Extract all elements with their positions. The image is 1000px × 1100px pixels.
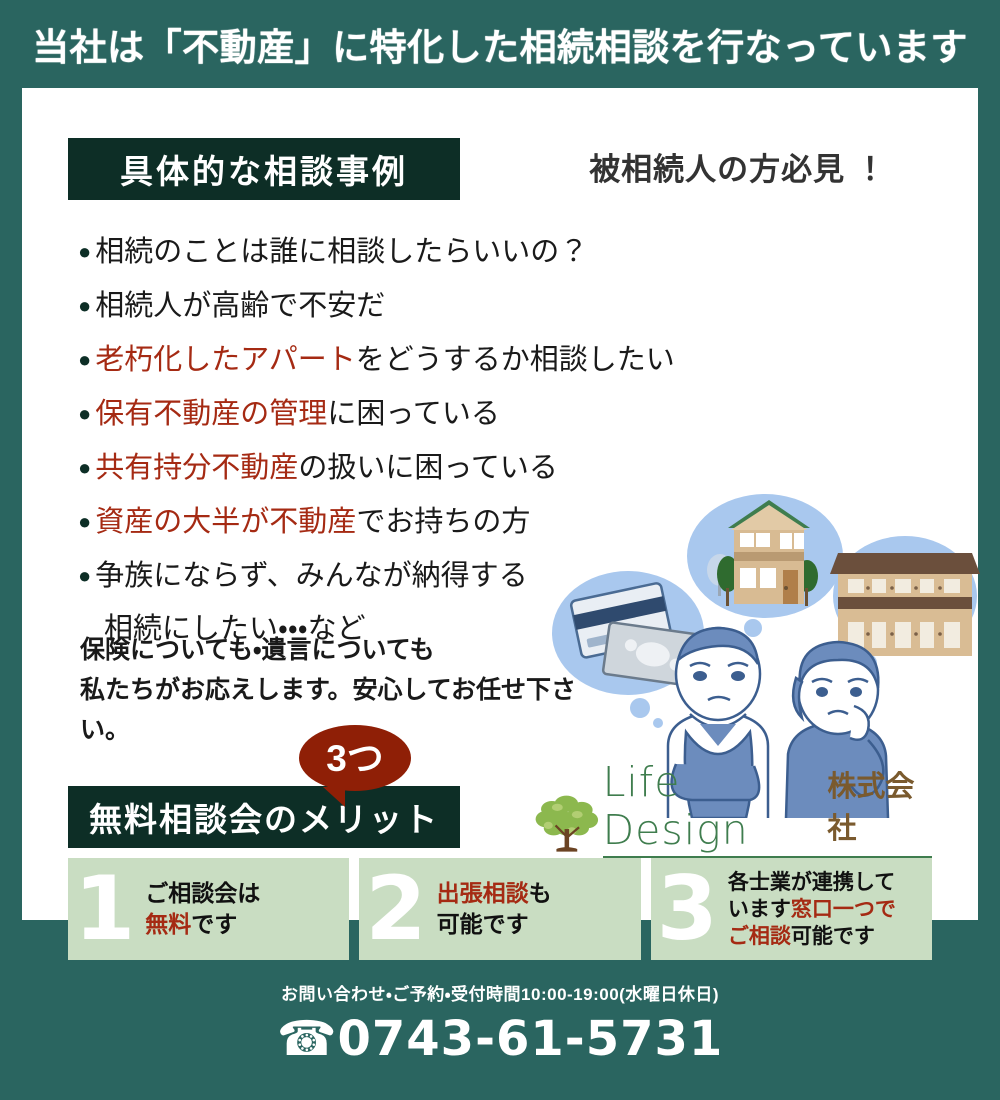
list-item: ● 保有不動産の管理に困っている [78,390,718,438]
bullet-rest: でお持ちの方 [356,506,530,538]
merit-highlight: 無料 [145,911,191,937]
page-title: 当社は「不動産」に特化した相続相談を行なっています [32,17,968,71]
consultation-examples-badge: 具体的な相談事例 [68,138,460,200]
merit-text: 各士業が連携して います窓口一つで ご相談可能です [728,869,896,950]
company-logo: Life Design 株式会社 [532,778,932,858]
merit-text: ご相談会は 無料です [145,878,260,940]
merit-line: 出張相談も [437,878,552,909]
bullet-rest: の扱いに困っている [298,452,558,484]
phone-number-text: 0743-61-5731 [337,1011,723,1067]
merit-number: 1 [74,865,135,953]
bullet-highlight: 保有不動産の管理 [95,398,327,430]
merit-box-3: 3 各士業が連携して います窓口一つで ご相談可能です [651,858,932,960]
merit-plain: ご相談会は [145,880,260,906]
heir-must-see-heading: 被相続人の方必見 ！ [528,144,948,189]
merit-line: ご相談可能です [728,923,896,950]
poster-root: 当社は「不動産」に特化した相続相談を行なっています 具体的な相談事例 被相続人の… [0,0,1000,1100]
bullet-text: 相続人が高齢で不安だ [95,282,718,330]
bullet-dot-icon: ● [78,444,91,492]
bullet-rest: 争族にならず、みんなが納得する [95,560,527,592]
bullet-text: 相続のことは誰に相談したらいいの？ [95,228,718,276]
bullet-highlight: 資産の大半が不動産 [95,506,356,538]
bullet-rest: 相続のことは誰に相談したらいいの？ [95,236,588,268]
list-item: ● 相続のことは誰に相談したらいいの？ [78,228,718,276]
bullet-rest: をどうするか相談したい [356,344,675,376]
merit-line: います窓口一つで [728,896,896,923]
merit-number: 3 [657,865,718,953]
merit-tail: です [191,911,237,937]
note-line-1: 保険についても・遺言についても [80,630,620,670]
logo-suffix: 株式会社 [827,763,932,847]
merit-text: 出張相談も 可能です [437,878,552,940]
list-item: ● 老朽化したアパートをどうするか相談したい [78,336,718,384]
bullet-rest: 相続人が高齢で不安だ [95,290,385,322]
bullet-highlight: 老朽化したアパート [95,344,355,376]
merit-plain: 各士業が連携して [728,871,895,894]
bullet-dot-icon: ● [78,552,91,600]
list-item: ● 相続人が高齢で不安だ [78,282,718,330]
telephone-icon: ☎ [277,1011,338,1067]
bullet-rest: に困っている [327,398,500,430]
merit-tail: 可能です [791,925,875,948]
header-banner: 当社は「不動産」に特化した相続相談を行なっています [0,0,1000,88]
merit-plain: います [728,898,791,921]
section-header-row: 具体的な相談事例 被相続人の方必見 ！ [68,138,948,200]
three-benefits-label: 3つ [326,740,384,777]
merit-number: 2 [365,865,426,953]
bullet-dot-icon: ● [78,498,91,546]
merit-box-2: 2 出張相談も 可能です [359,858,640,960]
merit-tail: も [529,880,552,906]
business-hours-text: お問い合わせ・ご予約・受付時間10:00-19:00(水曜日休日) [0,980,1000,1005]
bullet-dot-icon: ● [78,228,91,276]
merit-highlight: 出張相談 [437,880,529,906]
merit-plain: 可能です [437,911,529,937]
three-benefits-bubble: 3つ [299,725,411,791]
consultation-examples-label: 具体的な相談事例 [120,145,408,193]
bullet-text: 保有不動産の管理に困っている [95,390,718,438]
footer-contact: お問い合わせ・ご予約・受付時間10:00-19:00(水曜日休日) ☎0743-… [0,980,1000,1067]
merit-box-list: 1 ご相談会は 無料です 2 出張相談も 可能です 3 各士業が連携して います… [68,858,932,960]
merit-line: 各士業が連携して [728,869,896,896]
merit-highlight: 窓口一つで [791,898,896,921]
tree-icon [532,782,603,858]
phone-number[interactable]: ☎0743-61-5731 [0,1011,1000,1067]
merit-highlight: ご相談 [728,925,791,948]
free-consultation-merit-banner: 無料相談会のメリット [68,786,460,848]
merit-line: 無料です [145,909,260,940]
free-consultation-merit-label: 無料相談会のメリット [89,793,439,841]
merit-line: ご相談会は [145,878,260,909]
bullet-text: 老朽化したアパートをどうするか相談したい [95,336,718,384]
bullet-dot-icon: ● [78,390,91,438]
merit-box-1: 1 ご相談会は 無料です [68,858,349,960]
bullet-dot-icon: ● [78,336,91,384]
thought-bubble-house-icon [687,494,843,637]
bullet-highlight: 共有持分不動産 [95,452,298,484]
bullet-dot-icon: ● [78,282,91,330]
content-card: 具体的な相談事例 被相続人の方必見 ！ ● 相続のことは誰に相談したらいいの？ … [22,88,978,920]
logo-name: Life Design [603,758,818,854]
merit-line: 可能です [437,909,552,940]
